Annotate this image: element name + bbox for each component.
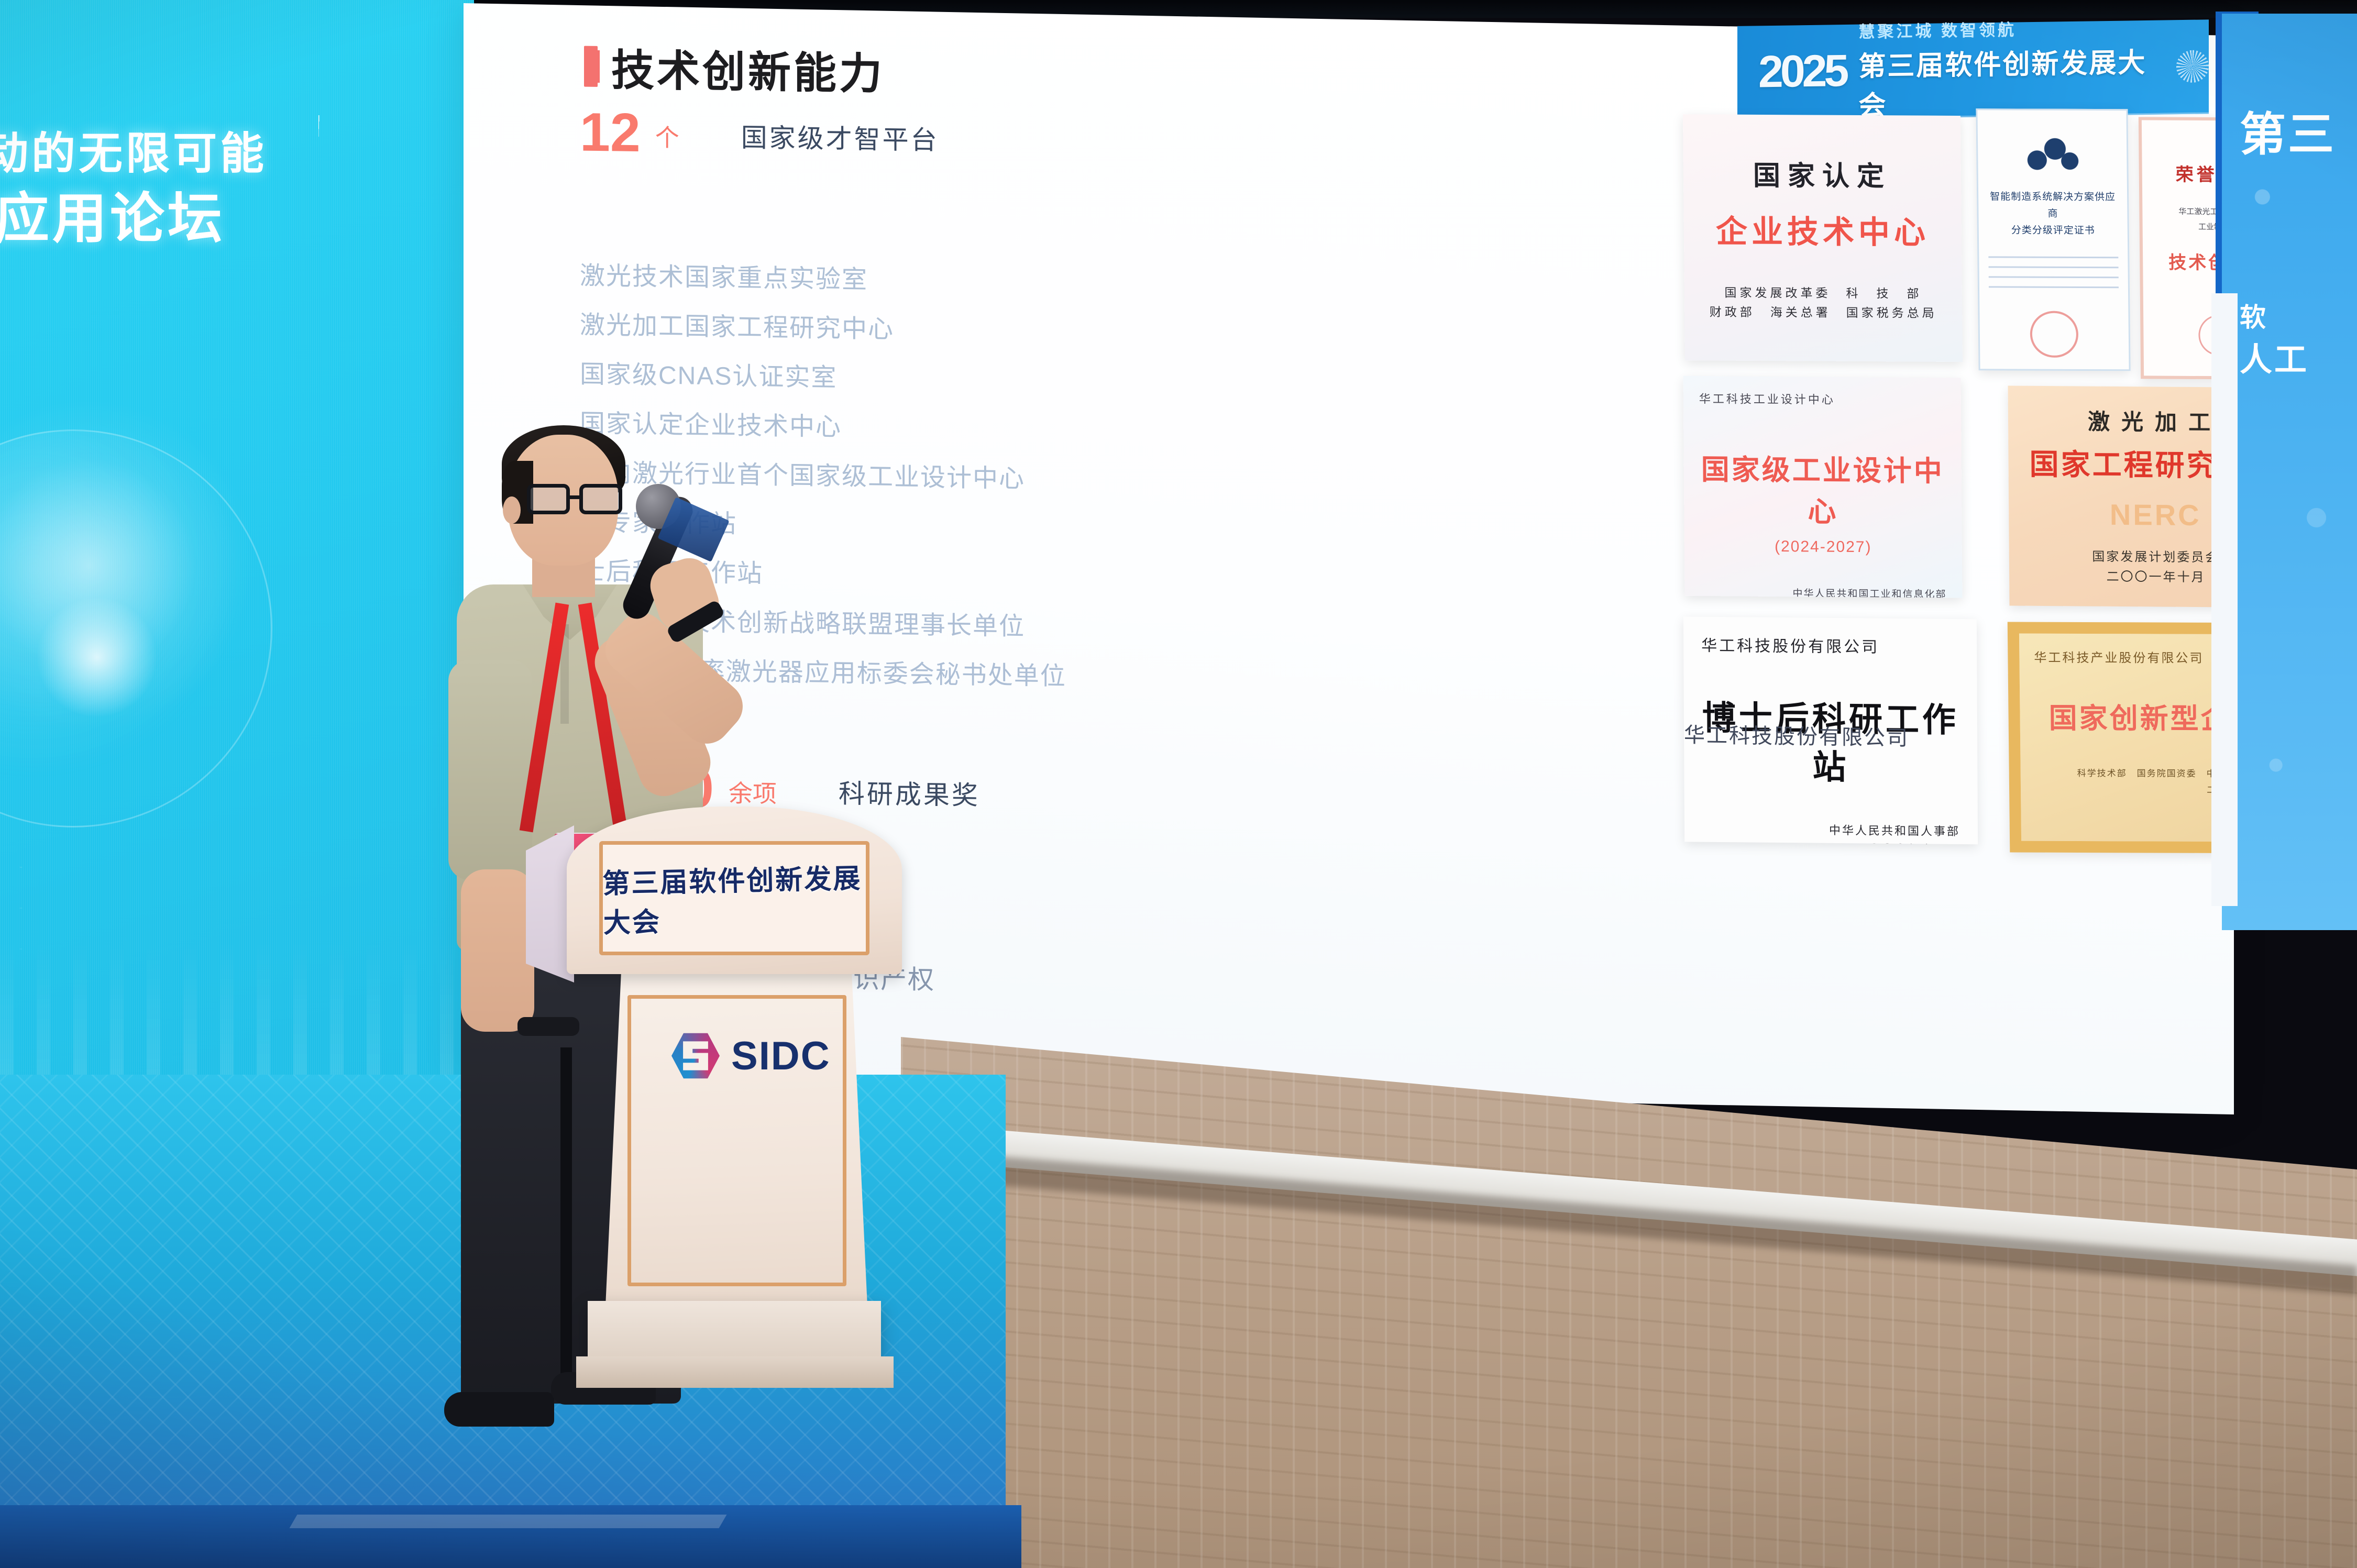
podium-base-plinth [576, 1356, 894, 1388]
podium-sign: 第三届软件创新发展大会 [599, 841, 869, 955]
left-led-banner: 驱动的无限可能 新应用论坛 [0, 0, 474, 1157]
cert-b-issuer: 中华人民共和国工业和信息化部 二〇二三年 [1700, 586, 1946, 598]
left-banner-text: 驱动的无限可能 新应用论坛 [0, 130, 450, 249]
certificate-national-industrial-design-center: 华工科技工业设计中心 国家级工业设计中心 (2024-2027) 中华人民共和国… [1683, 376, 1963, 598]
stat-platforms-number: 12 [580, 108, 641, 158]
right-banner-line2: 软 [2240, 296, 2268, 334]
cert-c-issuer: 中华人民共和国人事部 二〇〇〇年十一月 [1702, 820, 1960, 845]
cert-b-title-main: 国家级工业设计中心 [1699, 446, 1946, 531]
stat-platforms-label: 国家级才智平台 [741, 116, 939, 162]
podium: SIDC 第三届软件创新发展大会 [567, 807, 933, 1414]
certificate-national-enterprise-tech-center: 国家认定 企业技术中心 国家发展改革委 科 技 部 财政部 海关总署 国家税务总… [1683, 114, 1963, 362]
speaker-ear [503, 496, 521, 524]
floor-tape [289, 1515, 726, 1528]
cert-a-issuer: 国家发展改革委 科 技 部 财政部 海关总署 国家税务总局 [1709, 283, 1937, 323]
conference-year: 2025 [1758, 45, 1846, 98]
cert-b-period: (2024-2027) [1700, 537, 1946, 557]
conference-header-texts: 慧聚江城 数智领航 第三届软件创新发展大会 [1858, 15, 2164, 123]
conference-stage-photo: 驱动的无限可能 新应用论坛 2025 慧聚江城 数智领航 第三届软件创新发展大会… [0, 0, 2357, 1568]
left-banner-line2: 新应用论坛 [0, 189, 450, 249]
right-banner-line1: 第三 [2240, 97, 2336, 164]
list-item: 激光技术国家重点实验室 [580, 255, 1066, 298]
red-seal-icon [2030, 311, 2078, 358]
glasses-icon [527, 484, 624, 515]
list-item: 国家级CNAS认证实室 [580, 353, 1066, 396]
stat-platforms: 12 个 国家级才智平台 [580, 108, 939, 162]
sleeve-left [448, 660, 532, 880]
venue-carpet [901, 1037, 2357, 1568]
podium-sign-text: 第三届软件创新发展大会 [602, 856, 866, 940]
right-banner-line3: 人工 [2240, 333, 2309, 380]
podium-base [588, 1301, 881, 1364]
cert-d-title: 智能制造系统解决方案供应商 分类分级评定证书 [1988, 189, 2118, 240]
title-accent-bar [584, 46, 598, 86]
stat-platforms-unit: 个 [655, 118, 679, 159]
right-led-banner: 第三 软 人工 [2222, 14, 2357, 930]
cert-c-header: 华工科技股份有限公司 [1701, 633, 1959, 658]
sidc-logo: SIDC [671, 1032, 831, 1080]
certificate-caption-company: 华工科技股份有限公司 [1684, 718, 1909, 752]
conference-slogan: 慧聚江城 数智领航 [1858, 15, 2164, 42]
cert-d-fill-lines [1988, 256, 2119, 288]
right-banner-white-gap [2211, 293, 2238, 906]
left-banner-line1: 驱动的无限可能 [0, 130, 450, 178]
cert-a-title-main: 企业技术中心 [1715, 206, 1930, 253]
sidc-hex-icon [671, 1032, 720, 1080]
gear-logo-icon [2025, 138, 2080, 175]
slide-title-text: 技术创新能力 [611, 35, 885, 101]
cert-a-title-top: 国家认定 [1753, 153, 1892, 193]
sidc-logo-text: SIDC [731, 1033, 831, 1079]
conference-header-ribbon: 2025 慧聚江城 数智领航 第三届软件创新发展大会 [1737, 19, 2209, 120]
arm-left [461, 869, 534, 1032]
slide-title: 技术创新能力 [584, 35, 885, 102]
list-item: 激光加工国家工程研究中心 [580, 304, 1066, 347]
burst-icon [2176, 50, 2209, 83]
carpet-pattern [901, 1037, 2357, 1568]
cert-b-header: 华工科技工业设计中心 [1699, 390, 1945, 408]
shoe-left [444, 1392, 554, 1427]
certificate-smart-manufacturing: 智能制造系统解决方案供应商 分类分级评定证书 [1976, 108, 2130, 371]
